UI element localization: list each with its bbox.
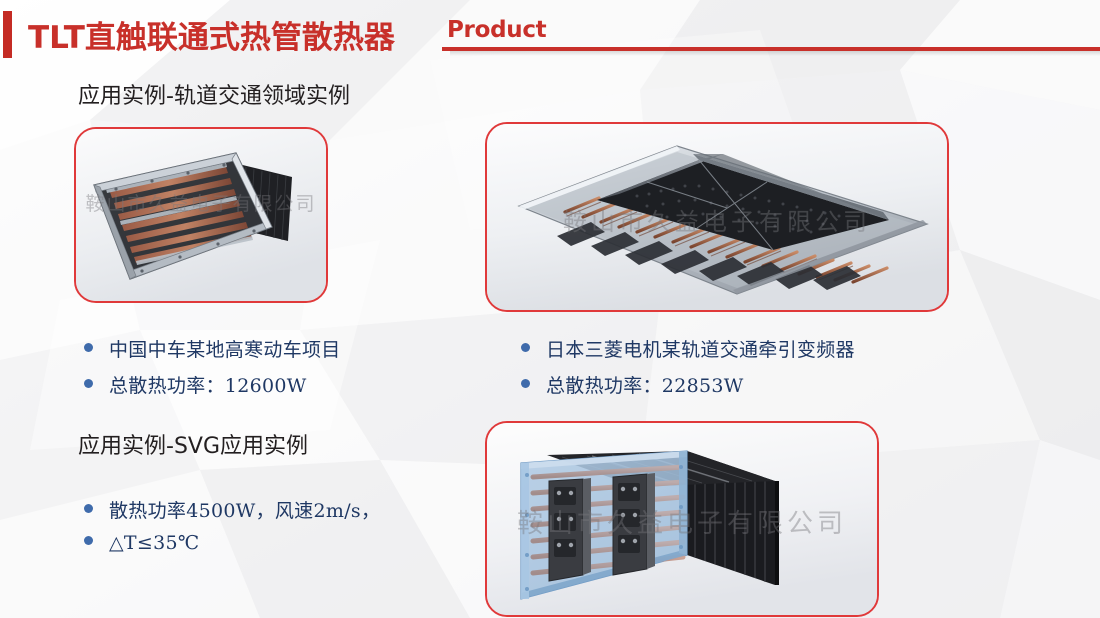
slide-header: TLT直触联通式热管散热器 Product bbox=[0, 0, 1100, 62]
rail-heatsink-tray-illustration bbox=[76, 129, 326, 301]
bullet-label: 日本三菱电机某轨道交通牵引变频器 bbox=[546, 335, 855, 362]
bullet-label: 总散热功率：12600W bbox=[109, 371, 307, 398]
photo-rail-heatsink-tray: 鞍山市久益电子有限公司 bbox=[74, 127, 328, 303]
photo-svg-heatsink-assembly: 鞍山市久益电子有限公司 bbox=[485, 421, 879, 617]
rail-heatsink-panel-illustration bbox=[487, 124, 947, 310]
header-accent-bar bbox=[3, 11, 12, 58]
bullet-list-svg: 散热功率4500W，风速2m/s， △T≤35℃ bbox=[84, 496, 380, 563]
page-title: TLT直触联通式热管散热器 bbox=[28, 12, 395, 57]
section-heading-rail: 应用实例-轨道交通领域实例 bbox=[78, 78, 350, 110]
bullet-list-rail-right: 日本三菱电机某轨道交通牵引变频器 总散热功率：22853W bbox=[521, 335, 855, 407]
header-eyebrow-label: Product bbox=[447, 17, 546, 43]
photo-rail-heatsink-panel: 鞍山市久益电子有限公司 bbox=[485, 122, 949, 312]
bullet-label: 总散热功率：22853W bbox=[546, 371, 744, 398]
list-item: 中国中车某地高寒动车项目 bbox=[84, 335, 341, 362]
bullet-label: △T≤35℃ bbox=[109, 532, 199, 554]
bullet-dot-icon bbox=[84, 504, 93, 513]
bullet-list-rail-left: 中国中车某地高寒动车项目 总散热功率：12600W bbox=[84, 335, 341, 407]
section-heading-svg: 应用实例-SVG应用实例 bbox=[78, 428, 308, 460]
bullet-dot-icon bbox=[84, 379, 93, 388]
bullet-dot-icon bbox=[84, 536, 93, 545]
bullet-dot-icon bbox=[521, 379, 530, 388]
list-item: 散热功率4500W，风速2m/s， bbox=[84, 496, 380, 523]
list-item: 总散热功率：12600W bbox=[84, 371, 341, 398]
list-item: △T≤35℃ bbox=[84, 532, 380, 554]
list-item: 总散热功率：22853W bbox=[521, 371, 855, 398]
slide-canvas: TLT直触联通式热管散热器 Product 应用实例-轨道交通领域实例 bbox=[0, 0, 1100, 618]
bullet-label: 中国中车某地高寒动车项目 bbox=[109, 335, 341, 362]
header-underline-shadow bbox=[450, 51, 1100, 56]
svg-heatsink-assembly-illustration bbox=[487, 423, 877, 615]
list-item: 日本三菱电机某轨道交通牵引变频器 bbox=[521, 335, 855, 362]
bullet-dot-icon bbox=[84, 343, 93, 352]
bullet-dot-icon bbox=[521, 343, 530, 352]
bullet-label: 散热功率4500W，风速2m/s， bbox=[109, 496, 380, 523]
